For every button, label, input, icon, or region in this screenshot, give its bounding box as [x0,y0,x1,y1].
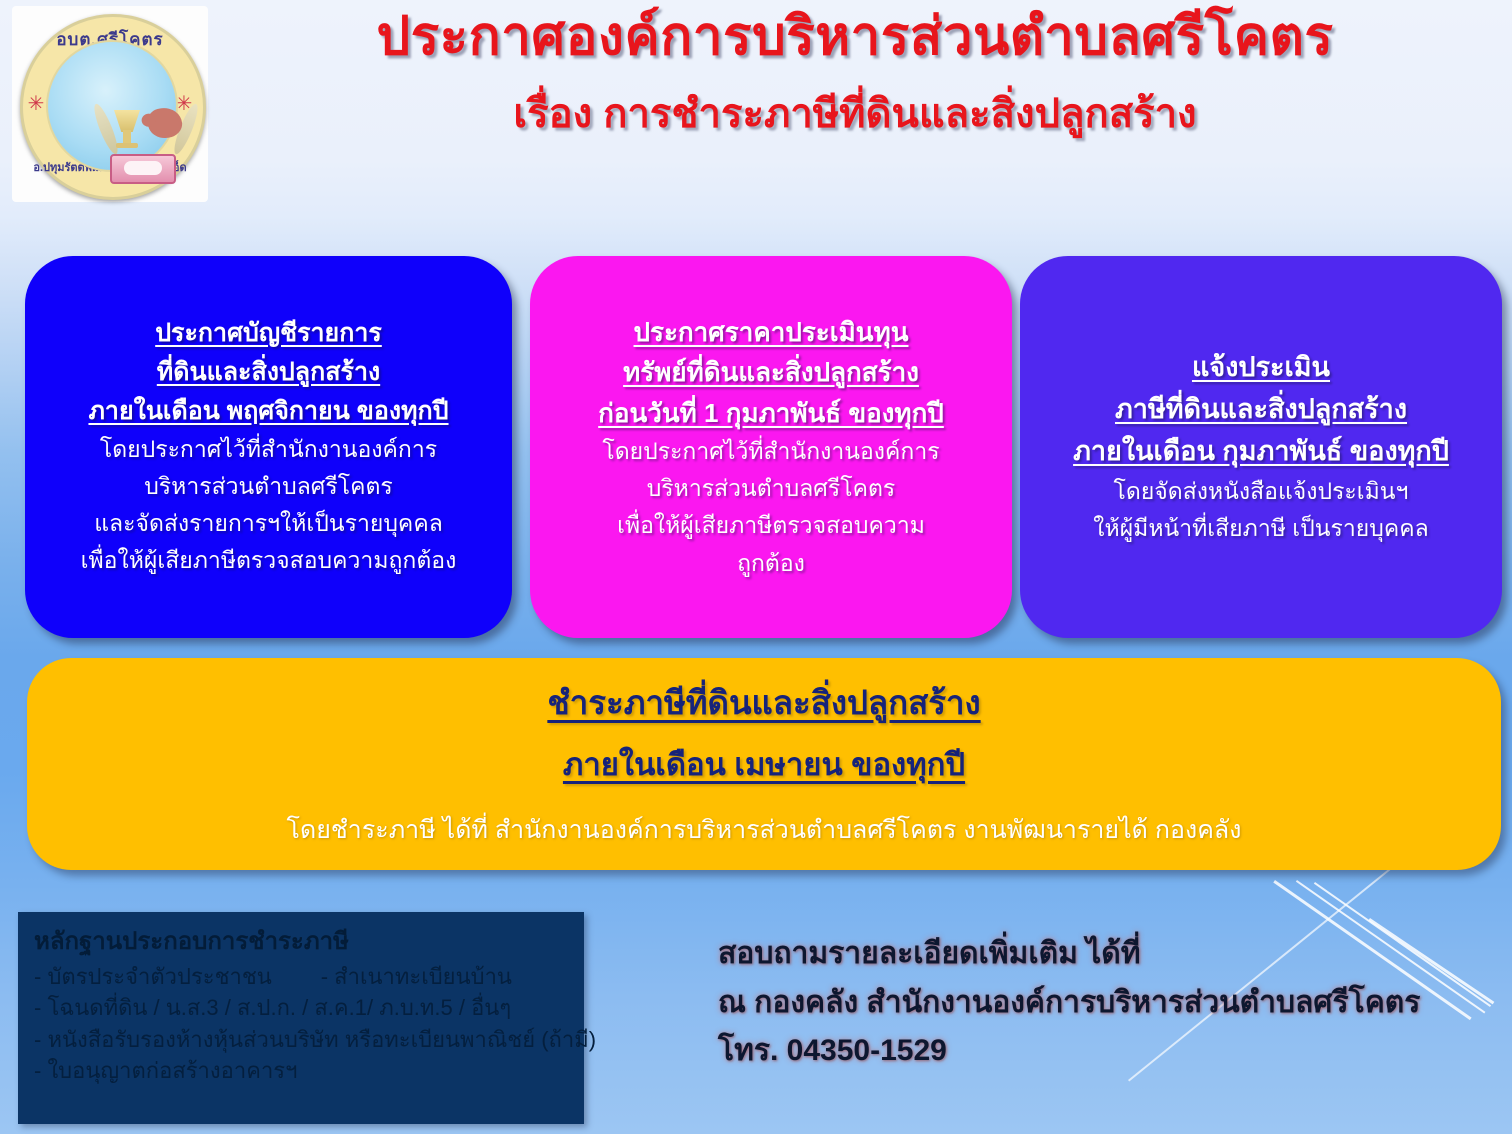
card-magenta-headline-2: ทรัพย์ที่ดินและสิ่งปลูกสร้าง [623,352,919,392]
card-assessment-notice: แจ้งประเมิน ภาษีที่ดินและสิ่งปลูกสร้าง ภ… [1020,256,1502,638]
seal-ornament-left-icon: ✳ [26,94,46,114]
card-announce-valuation: ประกาศราคาประเมินทุน ทรัพย์ที่ดินและสิ่ง… [530,256,1012,638]
card-purple-headline-3: ภายในเดือน กุมภาพันธ์ ของทุกปี [1073,431,1449,473]
payment-banner: ชำระภาษีที่ดินและสิ่งปลูกสร้าง ภายในเดือ… [27,658,1501,870]
page-subtitle: เรื่อง การชำระภาษีที่ดินและสิ่งปลูกสร้าง [210,81,1500,145]
banner-detail: โดยชำระภาษี ได้ที่ สำนักงานองค์การบริหาร… [287,810,1242,850]
card-purple-headline-2: ภาษีที่ดินและสิ่งปลูกสร้าง [1115,389,1407,431]
card-blue-body-4: เพื่อให้ผู้เสียภาษีตรวจสอบความถูกต้อง [81,542,457,579]
card-magenta-body-4: ถูกต้อง [737,545,805,582]
documents-item-1: - บัตรประจำตัวประชาชน - สำเนาทะเบียนบ้าน [34,961,568,992]
card-magenta-body-3: เพื่อให้ผู้เสียภาษีตรวจสอบความ [617,507,925,544]
contact-phone: โทร. 04350-1529 [718,1027,1488,1076]
card-purple-body-2: ให้ผู้มีหน้าที่เสียภาษี เป็นรายบุคคล [1093,510,1428,547]
card-blue-headline-1: ประกาศบัญชีรายการ [155,314,382,353]
card-announce-list: ประกาศบัญชีรายการ ที่ดินและสิ่งปลูกสร้าง… [25,256,512,638]
poster-canvas: อบต.ศรีโคตร ✳ ✳ อ.ปทุมรัตต์พัฒนพิมาน จ.ร… [0,0,1512,1134]
documents-title: หลักฐานประกอบการชำระภาษี [34,926,568,957]
card-purple-body-1: โดยจัดส่งหนังสือแจ้งประเมินฯ [1114,473,1409,510]
contact-line-2: ณ กองคลัง สำนักงานองค์การบริหารส่วนตำบลศ… [718,979,1488,1028]
header-block: ประกาศองค์การบริหารส่วนตำบลศรีโคตร เรื่อ… [210,8,1500,145]
required-documents-box: หลักฐานประกอบการชำระภาษี - บัตรประจำตัวป… [18,912,584,1124]
contact-line-1: สอบถามรายละเอียดเพิ่มเติม ได้ที่ [718,930,1488,979]
contact-block: สอบถามรายละเอียดเพิ่มเติม ได้ที่ ณ กองคล… [718,930,1488,1076]
seal-inner-emblem [46,40,178,172]
documents-item-4: - ใบอนุญาตก่อสร้างอาคารฯ [34,1055,568,1086]
banner-headline-1: ชำระภาษีที่ดินและสิ่งปลูกสร้าง [547,678,980,728]
card-blue-body-1: โดยประกาศไว้ที่สำนักงานองค์การ [100,431,437,468]
card-magenta-body-2: บริหารส่วนตำบลศรีโคตร [647,470,896,507]
card-purple-headline-1: แจ้งประเมิน [1192,347,1330,389]
documents-item-3: - หนังสือรับรองห้างหุ้นส่วนบริษัท หรือทะ… [34,1024,568,1055]
card-blue-body-3: และจัดส่งรายการฯให้เป็นรายบุคคล [94,505,443,542]
card-magenta-body-1: โดยประกาศไว้ที่สำนักงานองค์การ [602,433,939,470]
card-blue-headline-2: ที่ดินและสิ่งปลูกสร้าง [157,353,380,392]
offering-tray-icon [114,110,140,132]
card-blue-headline-3: ภายในเดือน พฤศจิกายน ของทุกปี [88,392,448,431]
card-blue-body-2: บริหารส่วนตำบลศรีโคตร [144,468,393,505]
banner-headline-2: ภายในเดือน เมษายน ของทุกปี [563,742,965,789]
handshake-icon [110,154,176,184]
page-title: ประกาศองค์การบริหารส่วนตำบลศรีโคตร [210,8,1500,65]
documents-item-2: - โฉนดที่ดิน / น.ส.3 / ส.ป.ก. / ส.ค.1/ ภ… [34,992,568,1023]
organization-seal-logo: อบต.ศรีโคตร ✳ ✳ อ.ปทุมรัตต์พัฒนพิมาน จ.ร… [12,6,208,202]
laurel-left-icon [90,102,121,157]
card-magenta-headline-1: ประกาศราคาประเมินทุน [634,312,909,352]
card-magenta-headline-3: ก่อนวันที่ 1 กุมภาพันธ์ ของทุกปี [598,393,944,433]
